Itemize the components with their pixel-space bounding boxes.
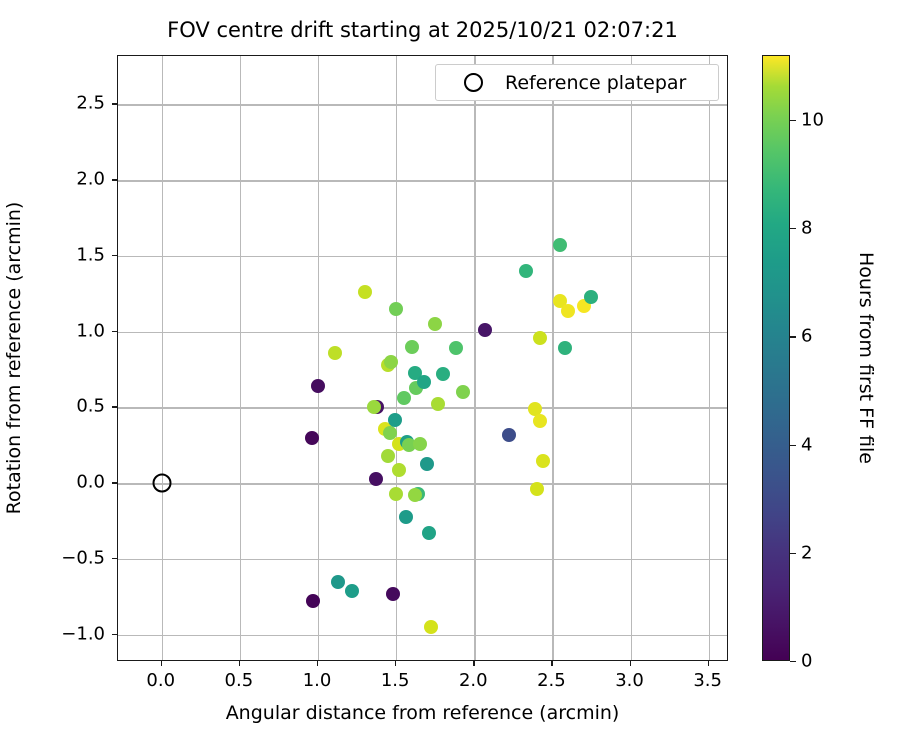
scatter-point [519, 264, 533, 278]
y-tick [112, 558, 117, 559]
x-gridline [318, 56, 319, 660]
x-gridline [162, 56, 163, 660]
scatter-point [533, 331, 547, 345]
legend-entry-label: Reference platepar [505, 72, 686, 94]
scatter-point [428, 317, 442, 331]
y-tick-label: 0.0 [76, 472, 105, 493]
reference-platepar-point [152, 474, 171, 493]
scatter-point [367, 400, 381, 414]
colorbar [762, 55, 790, 661]
colorbar-tick-label: 8 [801, 218, 812, 239]
y-tick-label: −0.5 [61, 547, 105, 568]
x-tick-label: 1.0 [303, 670, 332, 691]
x-tick-label: 3.0 [615, 670, 644, 691]
y-gridline [118, 104, 727, 105]
scatter-point [397, 391, 411, 405]
x-tick [239, 661, 240, 666]
y-gridline [118, 180, 727, 181]
scatter-point [417, 375, 431, 389]
scatter-point [431, 397, 445, 411]
scatter-point [478, 323, 492, 337]
scatter-point [405, 340, 419, 354]
x-tick-label: 3.5 [693, 670, 722, 691]
y-tick [112, 103, 117, 104]
y-tick-label: 0.5 [76, 396, 105, 417]
colorbar-tick [790, 661, 796, 662]
x-tick-label: 0.5 [225, 670, 254, 691]
scatter-point [533, 414, 547, 428]
scatter-point [584, 290, 598, 304]
scatter-point [328, 346, 342, 360]
x-tick-label: 0.0 [146, 670, 175, 691]
y-gridline [118, 407, 727, 408]
colorbar-tick [790, 336, 796, 337]
colorbar-title: Hours from first FF file [855, 252, 877, 464]
x-axis-label: Angular distance from reference (arcmin) [117, 702, 728, 724]
plot-area [117, 55, 728, 661]
x-tick [551, 661, 552, 666]
colorbar-tick-label: 0 [801, 651, 812, 672]
x-gridline [552, 56, 553, 660]
x-tick-label: 1.5 [381, 670, 410, 691]
scatter-point [420, 457, 434, 471]
x-tick [161, 661, 162, 666]
scatter-point [561, 304, 575, 318]
y-tick [112, 634, 117, 635]
scatter-point [536, 454, 550, 468]
scatter-point [345, 584, 359, 598]
x-tick [317, 661, 318, 666]
y-tick-label: 1.0 [76, 320, 105, 341]
y-tick [112, 255, 117, 256]
colorbar-tick-label: 2 [801, 542, 812, 563]
y-tick [112, 179, 117, 180]
x-tick [630, 661, 631, 666]
scatter-point [358, 285, 372, 299]
colorbar-tick-label: 10 [801, 109, 824, 130]
chart-title: FOV centre drift starting at 2025/10/21 … [0, 18, 845, 42]
colorbar-tick [790, 120, 796, 121]
y-tick [112, 406, 117, 407]
colorbar-tick [790, 445, 796, 446]
scatter-point [369, 472, 383, 486]
x-gridline [709, 56, 710, 660]
y-tick-label: −1.0 [61, 623, 105, 644]
y-gridline [118, 256, 727, 257]
y-tick [112, 331, 117, 332]
y-gridline [118, 332, 727, 333]
scatter-point [399, 510, 413, 524]
scatter-point [424, 620, 438, 634]
x-tick [395, 661, 396, 666]
x-tick-label: 2.0 [459, 670, 488, 691]
scatter-point [436, 367, 450, 381]
scatter-point [384, 355, 398, 369]
scatter-point [386, 587, 400, 601]
scatter-point [389, 302, 403, 316]
y-gridline [118, 635, 727, 636]
colorbar-tick [790, 228, 796, 229]
y-tick-label: 1.5 [76, 244, 105, 265]
scatter-point [530, 482, 544, 496]
y-tick [112, 482, 117, 483]
colorbar-tick-label: 6 [801, 326, 812, 347]
x-tick [708, 661, 709, 666]
scatter-point [331, 575, 345, 589]
legend: Reference platepar [435, 64, 719, 101]
scatter-point [456, 385, 470, 399]
scatter-point [306, 594, 320, 608]
x-gridline [631, 56, 632, 660]
scatter-point [502, 428, 516, 442]
y-tick-label: 2.5 [76, 93, 105, 114]
scatter-point [305, 431, 319, 445]
colorbar-tick-label: 4 [801, 434, 812, 455]
y-axis-label: Rotation from reference (arcmin) [3, 202, 25, 515]
x-gridline [240, 56, 241, 660]
x-tick-label: 2.5 [537, 670, 566, 691]
figure: FOV centre drift starting at 2025/10/21 … [0, 0, 900, 750]
scatter-point [558, 341, 572, 355]
scatter-point [413, 437, 427, 451]
x-gridline [474, 56, 475, 660]
y-gridline [118, 559, 727, 560]
reference-platepar-marker-icon [464, 73, 483, 92]
scatter-point [422, 526, 436, 540]
scatter-point [388, 413, 402, 427]
y-tick-label: 2.0 [76, 169, 105, 190]
scatter-point [389, 487, 403, 501]
scatter-point [408, 488, 422, 502]
scatter-point [392, 463, 406, 477]
y-gridline [118, 483, 727, 484]
scatter-point [381, 449, 395, 463]
scatter-point [311, 379, 325, 393]
colorbar-tick [790, 553, 796, 554]
x-tick [473, 661, 474, 666]
scatter-point [449, 341, 463, 355]
scatter-point [553, 238, 567, 252]
